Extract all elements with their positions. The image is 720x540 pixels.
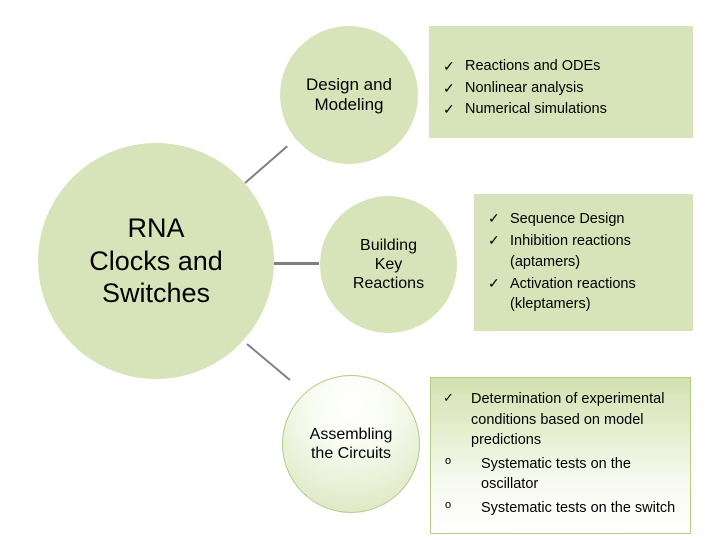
list-item: ✓ Inhibition reactions (aptamers) <box>488 231 685 272</box>
branch-circle-building-key-reactions: Building Key Reactions <box>320 196 457 333</box>
branch-circle-label: Design and Modeling <box>298 75 400 116</box>
list-item-label: Sequence Design <box>510 209 685 229</box>
list-item-label: Numerical simulations <box>465 99 683 120</box>
branch-circle-design-and-modeling: Design and Modeling <box>280 26 418 164</box>
list-item-label: Systematic tests on the oscillator <box>473 454 680 495</box>
branch-circle-assembling-the-circuits: Assembling the Circuits <box>282 375 420 513</box>
list-item: ✓ Nonlinear analysis <box>443 78 683 99</box>
check-icon: ✓ <box>443 56 465 76</box>
connector-line-assembling <box>246 343 290 381</box>
list-box-assembling-the-circuits: ✓ Determination of experimental conditio… <box>430 377 691 534</box>
check-icon: ✓ <box>488 231 510 251</box>
list-item-label: Systematic tests on the switch <box>473 498 680 519</box>
list-item: o Systematic tests on the switch <box>443 498 680 519</box>
check-icon: ✓ <box>443 389 471 407</box>
diagram-canvas: RNA Clocks and Switches Design and Model… <box>0 0 720 540</box>
list-box-building-key-reactions: ✓ Sequence Design ✓ Inhibition reactions… <box>474 194 693 331</box>
list-item-label: Determination of experimental conditions… <box>471 389 680 451</box>
check-icon: ✓ <box>443 78 465 98</box>
list-item-label: Activation reactions (kleptamers) <box>510 274 685 315</box>
list-item-label: Reactions and ODEs <box>465 56 683 77</box>
list-item-label: Inhibition reactions (aptamers) <box>510 231 685 272</box>
check-icon: ✓ <box>488 209 510 229</box>
bullet-list: ✓ Reactions and ODEs ✓ Nonlinear analysi… <box>443 56 683 120</box>
list-item: ✓ Activation reactions (kleptamers) <box>488 274 685 315</box>
branch-circle-label: Building Key Reactions <box>345 236 432 294</box>
list-item: ✓ Sequence Design <box>488 209 685 229</box>
branch-circle-label: Assembling the Circuits <box>302 425 401 463</box>
list-item: o Systematic tests on the oscillator <box>443 454 680 495</box>
hub-circle: RNA Clocks and Switches <box>38 143 274 379</box>
circle-bullet-icon: o <box>443 454 473 470</box>
bullet-list: ✓ Sequence Design ✓ Inhibition reactions… <box>488 209 685 314</box>
hub-circle-label: RNA Clocks and Switches <box>81 212 231 309</box>
list-item: ✓ Numerical simulations <box>443 99 683 120</box>
check-icon: ✓ <box>443 99 465 119</box>
list-item: ✓ Determination of experimental conditio… <box>443 389 680 451</box>
connector-line-reactions <box>274 262 319 265</box>
list-box-design-and-modeling: ✓ Reactions and ODEs ✓ Nonlinear analysi… <box>429 26 693 138</box>
circle-bullet-icon: o <box>443 498 473 514</box>
check-icon: ✓ <box>488 274 510 294</box>
list-item: ✓ Reactions and ODEs <box>443 56 683 77</box>
connector-line-design <box>244 146 288 184</box>
list-item-label: Nonlinear analysis <box>465 78 683 99</box>
bullet-list: ✓ Determination of experimental conditio… <box>443 389 680 518</box>
